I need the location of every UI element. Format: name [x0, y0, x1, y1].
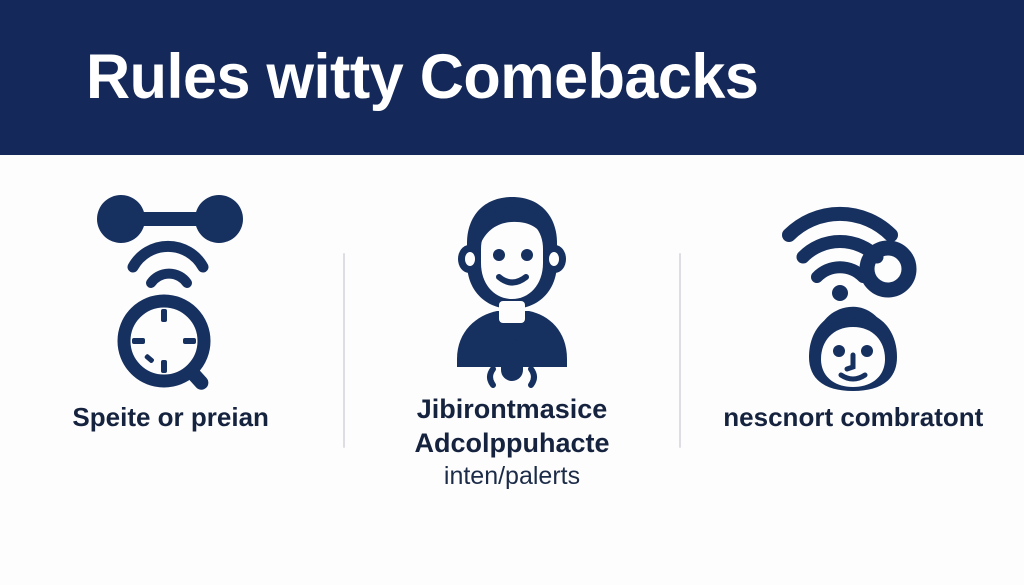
- icon-slot-1: [91, 155, 251, 385]
- icon-slot-2: [437, 155, 587, 385]
- column-1: Speite or preian: [0, 155, 341, 585]
- wifi-face-icon: [773, 191, 933, 391]
- column-2: Jibirontmasice Adcolppuhacte inten/paler…: [341, 155, 682, 585]
- columns-container: Speite or preian: [0, 155, 1024, 585]
- column-3-caption: nescnort combratont: [723, 401, 983, 434]
- body-area: Speite or preian: [0, 155, 1024, 585]
- column-2-caption-sub: inten/palerts: [444, 461, 580, 492]
- icon-slot-3: [773, 155, 933, 385]
- header-band: Rules witty Comebacks: [0, 0, 1024, 155]
- page-title: Rules witty Comebacks: [86, 46, 758, 109]
- dumbbell-signal-clock-icon: [91, 191, 251, 391]
- infographic-card: Rules witty Comebacks: [0, 0, 1024, 585]
- column-2-caption: Jibirontmasice Adcolppuhacte: [367, 393, 657, 461]
- person-microphone-icon: [437, 191, 587, 391]
- column-1-caption: Speite or preian: [72, 401, 269, 434]
- column-3: nescnort combratont: [683, 155, 1024, 585]
